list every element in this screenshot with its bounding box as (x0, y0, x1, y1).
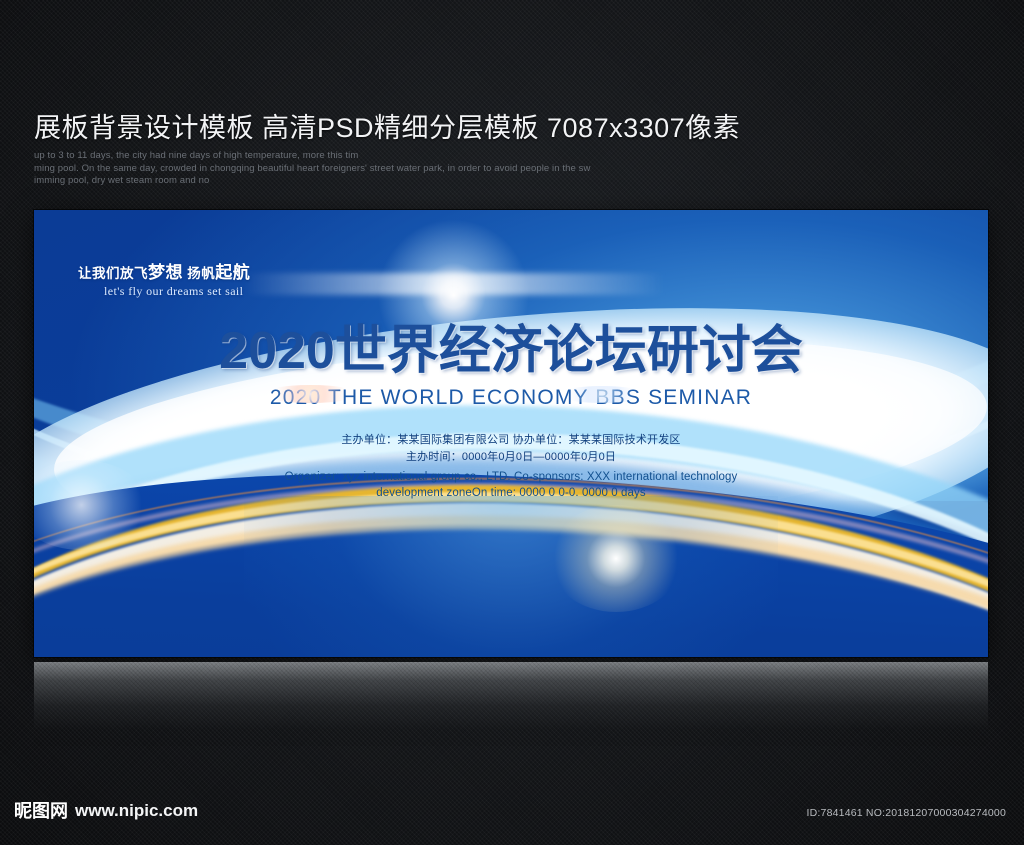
header-description: up to 3 to 11 days, the city had nine da… (34, 150, 894, 188)
light-streak-top-icon (244, 273, 664, 295)
poster-meta-english: Organizer: xyz international group co., … (34, 469, 988, 501)
brand-name-chinese: 昵图网 (14, 801, 68, 821)
poster-title-english: 2020 THE WORLD ECONOMY BBS SEMINAR (34, 386, 988, 410)
slogan-cn-part1: 让我们放飞 (78, 266, 148, 281)
header-description-line: up to 3 to 11 days, the city had nine da… (34, 150, 894, 163)
poster-meta-date-en: development zoneOn time: 0000 0 0-0. 000… (34, 485, 988, 501)
poster-bottom-glow (244, 496, 778, 657)
header-block: 展板背景设计模板 高清PSD精细分层模板 7087x3307像素 up to 3… (34, 112, 894, 188)
slogan-cn-emphasis2: 起航 (215, 263, 250, 282)
poster-slogan: 让我们放飞梦想 扬帆起航 let's fly our dreams set sa… (78, 258, 250, 299)
brand-website-url: www.nipic.com (75, 801, 198, 821)
poster-meta-organizer-en: Organizer: xyz international group co., … (34, 469, 988, 485)
slogan-english: let's fly our dreams set sail (104, 284, 250, 299)
poster-reflection (34, 662, 988, 746)
slogan-cn-part2: 扬帆 (187, 266, 215, 281)
poster-meta-date-cn: 主办时间：0000年0月0日—0000年0月0日 (34, 449, 988, 466)
page-title: 展板背景设计模板 高清PSD精细分层模板 7087x3307像素 (34, 112, 894, 144)
footer-bar: 昵图网 www.nipic.com ID:7841461 NO:20181207… (0, 793, 1024, 845)
slogan-chinese: 让我们放飞梦想 扬帆起航 (78, 258, 250, 283)
poster-meta-organizer-cn: 主办单位：某某国际集团有限公司 协办单位：某某某国际技术开发区 (34, 432, 988, 449)
header-description-line: imming pool, dry wet steam room and no (34, 175, 894, 188)
poster-title-chinese: 2020世界经济论坛研讨会 (34, 322, 988, 380)
poster-banner[interactable]: 让我们放飞梦想 扬帆起航 let's fly our dreams set sa… (34, 210, 988, 657)
brand-watermark[interactable]: 昵图网 www.nipic.com (14, 801, 198, 821)
asset-id-text: ID:7841461 NO:20181207000304274000 (807, 807, 1006, 819)
poster-center-text: 2020世界经济论坛研讨会 2020 THE WORLD ECONOMY BBS… (34, 322, 988, 501)
header-description-line: ming pool. On the same day, crowded in c… (34, 163, 894, 176)
poster-meta-block: 主办单位：某某国际集团有限公司 协办单位：某某某国际技术开发区 主办时间：000… (34, 432, 988, 501)
slogan-cn-emphasis1: 梦想 (148, 263, 183, 282)
